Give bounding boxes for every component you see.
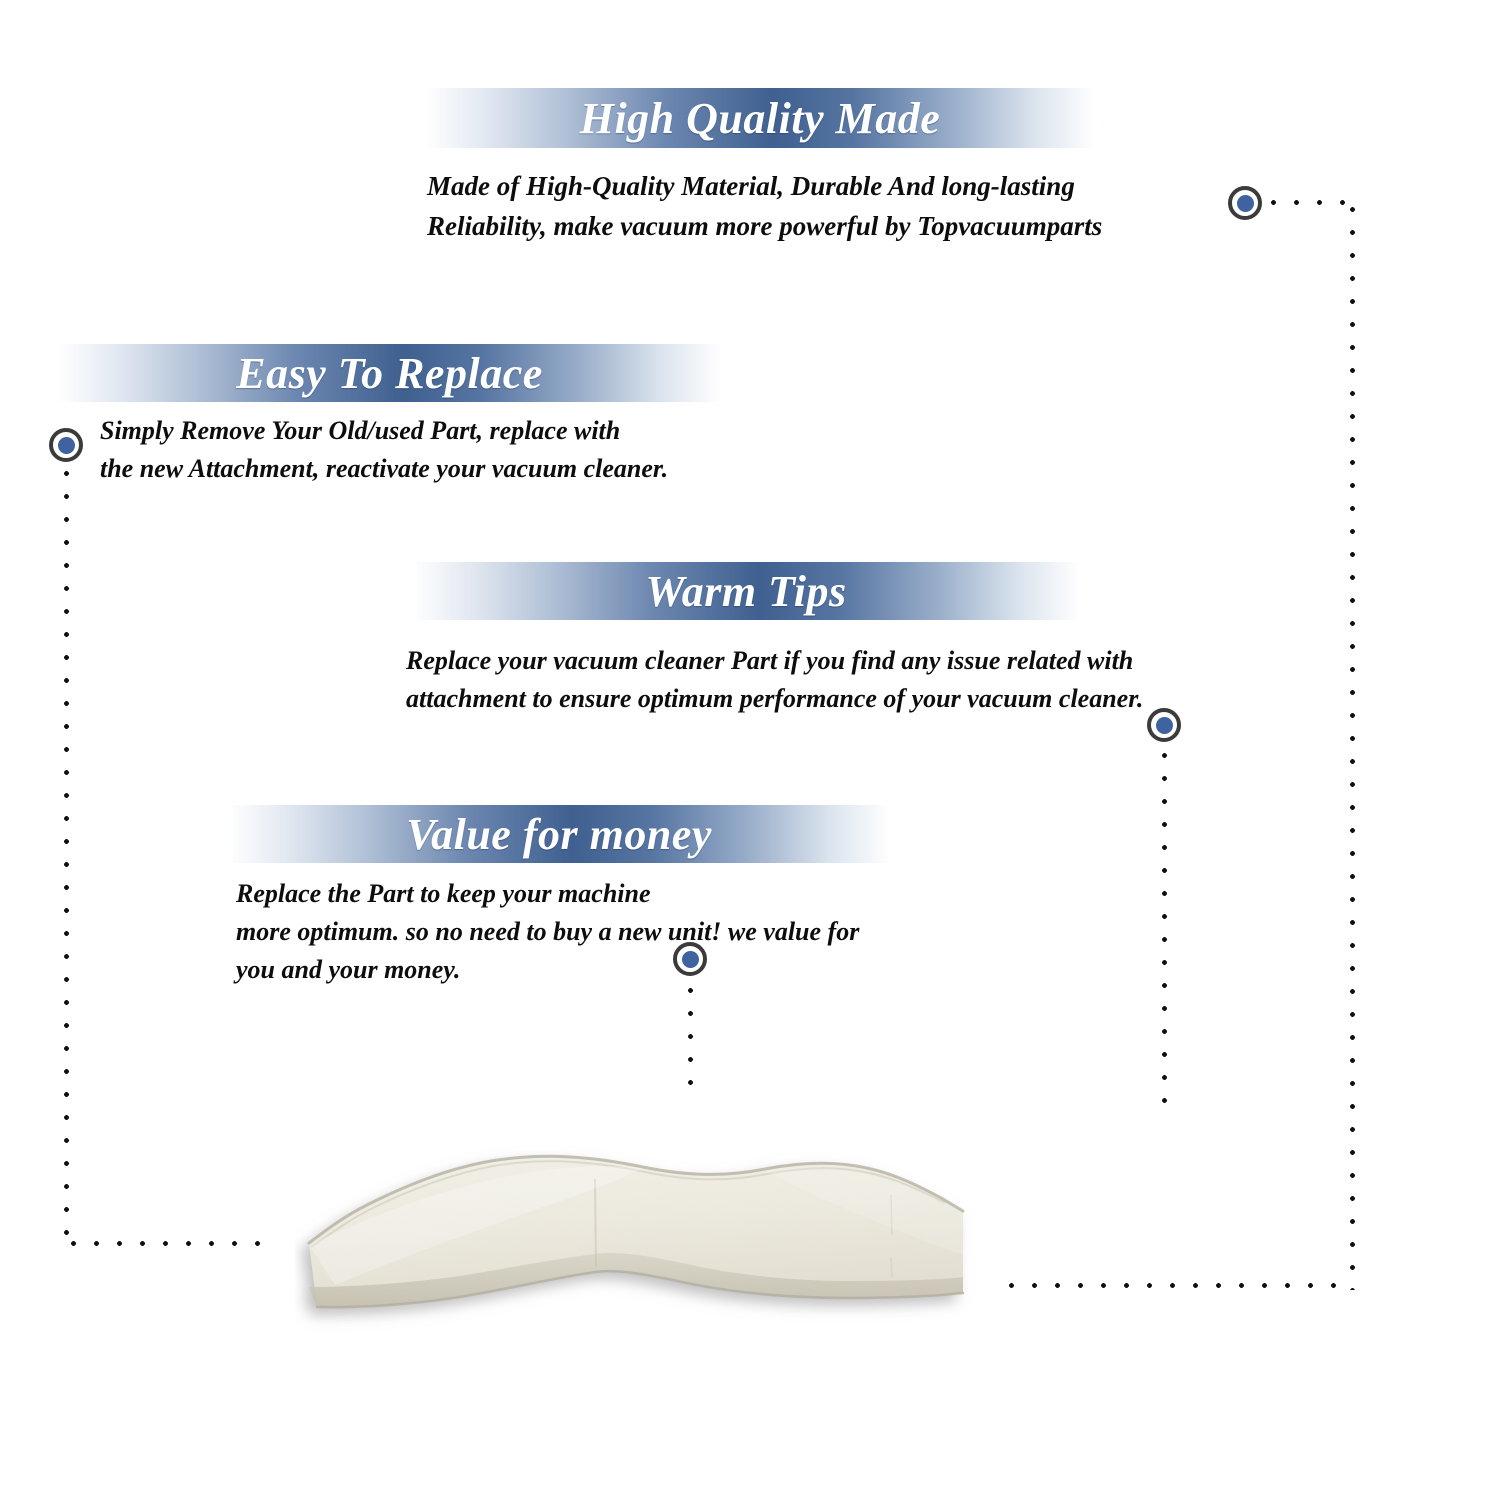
feature-banner-easy-to-replace: Easy To Replace: [58, 344, 721, 402]
connector-line-bottom-right-horizontal: [1000, 1281, 1352, 1290]
feature-body-line: Simply Remove Your Old/used Part, replac…: [100, 412, 668, 450]
product-image-felt-filter-strip: [295, 1135, 995, 1335]
feature-body-easy-to-replace: Simply Remove Your Old/used Part, replac…: [100, 412, 668, 488]
feature-easy-to-replace: Easy To Replace Simply Remove Your Old/u…: [58, 344, 721, 504]
feature-value-for-money: Value for money Replace the Part to keep…: [228, 805, 890, 1005]
feature-body-value-for-money: Replace the Part to keep your machine mo…: [236, 875, 859, 989]
feature-body-line: Replace the Part to keep your machine: [236, 875, 859, 913]
feature-banner-value-for-money: Value for money: [228, 805, 890, 863]
feature-title-high-quality-made: High Quality Made: [580, 93, 941, 144]
connector-marker-easy-to-replace: [49, 428, 83, 462]
feature-body-line: the new Attachment, reactivate your vacu…: [100, 450, 668, 488]
feature-title-warm-tips: Warm Tips: [645, 566, 846, 617]
feature-body-high-quality-made: Made of High-Quality Material, Durable A…: [427, 166, 1102, 246]
connector-line-top-right-horizontal: [1262, 198, 1358, 207]
feature-warm-tips: Warm Tips Replace your vacuum cleaner Pa…: [412, 562, 1080, 732]
feature-body-line: Made of High-Quality Material, Durable A…: [427, 166, 1102, 206]
connector-line-left-vertical: [62, 462, 71, 1247]
feature-body-line: you and your money.: [236, 951, 859, 989]
feature-banner-warm-tips: Warm Tips: [412, 562, 1080, 620]
connector-line-warm-tips-vertical: [1160, 744, 1169, 1106]
connector-marker-value-for-money: [673, 942, 707, 976]
feature-body-line: Reliability, make vacuum more powerful b…: [427, 206, 1102, 246]
infographic-canvas: High Quality Made Made of High-Quality M…: [0, 0, 1500, 1500]
connector-marker-high-quality-made: [1228, 186, 1262, 220]
feature-body-line: more optimum. so no need to buy a new un…: [236, 913, 859, 951]
feature-banner-high-quality-made: High Quality Made: [425, 88, 1095, 148]
feature-body-warm-tips: Replace your vacuum cleaner Part if you …: [406, 642, 1143, 718]
feature-body-line: Replace your vacuum cleaner Part if you …: [406, 642, 1143, 680]
feature-high-quality-made: High Quality Made Made of High-Quality M…: [425, 88, 1095, 248]
feature-title-easy-to-replace: Easy To Replace: [236, 348, 543, 399]
feature-body-line: attachment to ensure optimum performance…: [406, 680, 1143, 718]
feature-title-value-for-money: Value for money: [406, 809, 712, 860]
connector-line-right-vertical: [1348, 198, 1357, 1290]
connector-line-bottom-left-horizontal: [62, 1239, 262, 1248]
connector-marker-warm-tips: [1147, 708, 1181, 742]
